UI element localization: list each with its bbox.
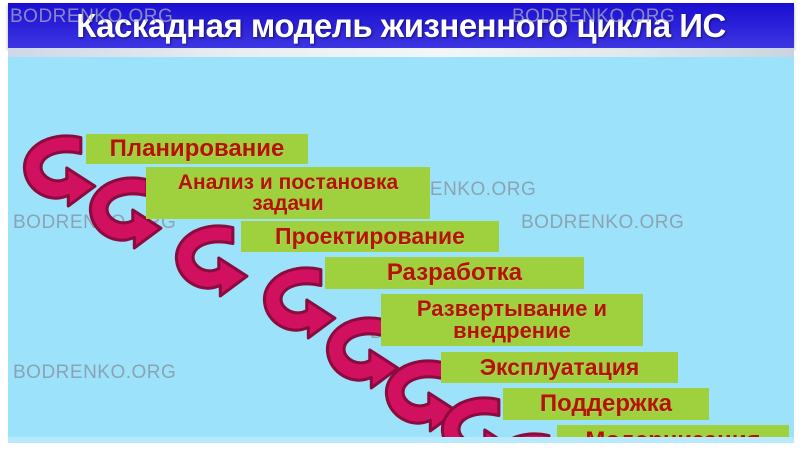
watermark: BODRENKO.ORG xyxy=(13,362,176,384)
stage-box-design[interactable]: Проектирование xyxy=(241,221,499,252)
stage-label: Эксплуатация xyxy=(480,356,640,379)
stage-label: Поддержка xyxy=(540,392,672,416)
stage-box-planning[interactable]: Планирование xyxy=(86,134,308,164)
title-bar: Каскадная модель жизненного цикла ИС xyxy=(8,3,794,48)
stage-box-support[interactable]: Поддержка xyxy=(503,388,709,420)
diagram-canvas: BODRENKO.ORGBODRENKO.ORGBODRENKO.ORGBODR… xyxy=(8,57,794,443)
stage-label: Развертывание и внедрение xyxy=(387,298,637,343)
title-underline-band xyxy=(8,48,794,57)
watermark: BODRENKO.ORG xyxy=(521,212,684,234)
stage-box-modernize[interactable]: Модернизация xyxy=(557,425,789,443)
stage-label: Планирование xyxy=(110,137,285,161)
stage-label: Разработка xyxy=(387,261,522,285)
page-title: Каскадная модель жизненного цикла ИС xyxy=(8,3,794,48)
stage-box-analysis[interactable]: Анализ и постановка задачи xyxy=(146,167,430,219)
flow-arrow xyxy=(488,431,566,443)
slide-root: Каскадная модель жизненного цикла ИС BOD… xyxy=(0,0,802,451)
stage-label: Проектирование xyxy=(275,225,465,248)
stage-label: Модернизация xyxy=(585,429,760,443)
flow-arrow xyxy=(172,223,250,299)
stage-box-development[interactable]: Разработка xyxy=(325,257,584,289)
stage-box-deployment[interactable]: Развертывание и внедрение xyxy=(381,294,643,346)
stage-label: Анализ и постановка задачи xyxy=(152,172,424,215)
stage-box-operation[interactable]: Эксплуатация xyxy=(441,352,678,383)
